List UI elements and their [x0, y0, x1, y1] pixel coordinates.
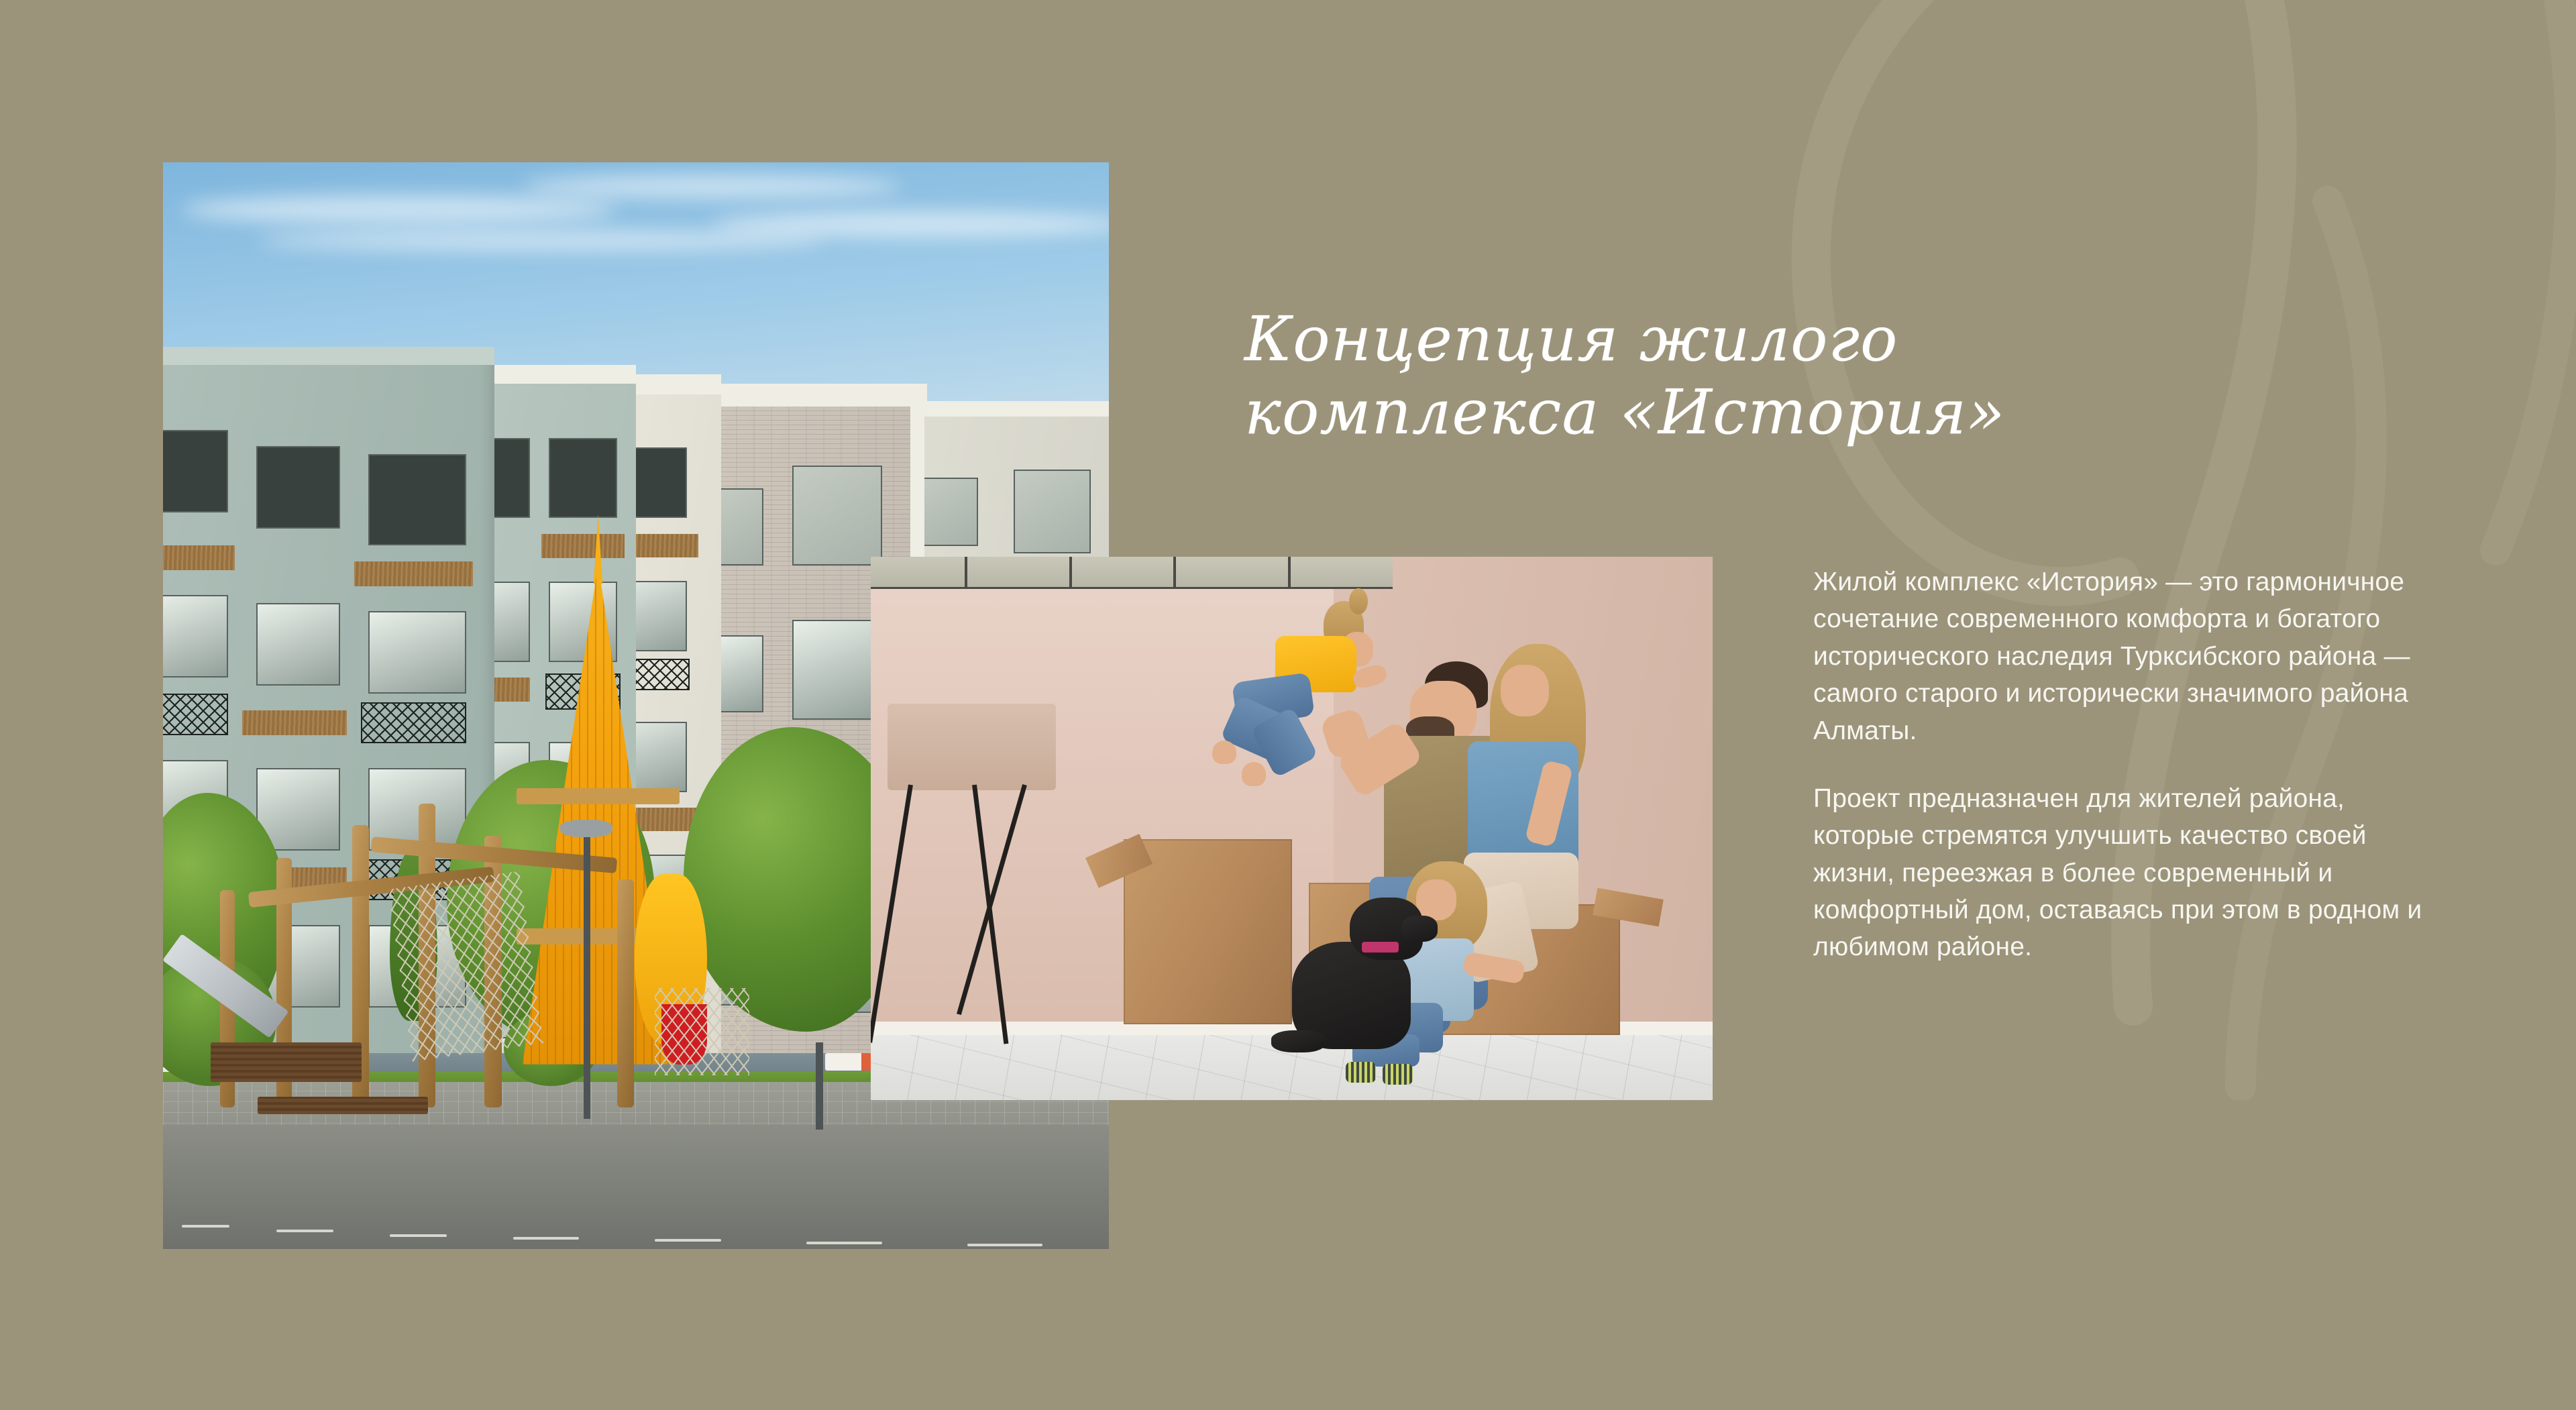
dog: [1283, 893, 1435, 1078]
window-strip: [871, 557, 1393, 589]
page-title: Концепция жилого комплекса «История»: [1244, 303, 2251, 449]
body-paragraph-1: Жилой комплекс «История» — это гармоничн…: [1813, 563, 2430, 749]
playground-log: [617, 879, 634, 1107]
street-lamp-head: [560, 820, 612, 837]
body-paragraph-2: Проект предназначен для жителей района, …: [1813, 780, 2430, 966]
street-lamp: [584, 825, 590, 1118]
barrier-post: [816, 1042, 823, 1130]
body-text-block: Жилой комплекс «История» — это гармоничн…: [1813, 563, 2430, 966]
slide-root: Концепция жилого комплекса «История» Жил…: [0, 0, 2576, 1410]
cardboard-box: [1124, 839, 1292, 1024]
playground-climbing-net: [388, 871, 543, 1062]
playground-cone-tower: [523, 564, 674, 1064]
dog-collar: [1362, 942, 1398, 953]
page-title-line-1: Концепция жилого: [1244, 303, 2251, 376]
page-title-line-2: комплекса «История»: [1244, 376, 2251, 449]
floor-lamp-shade: [888, 704, 1056, 791]
park-bench: [211, 1042, 362, 1081]
playground-rope-net: [655, 988, 749, 1075]
family-moving-in-photo: [871, 557, 1713, 1100]
park-bench: [258, 1097, 428, 1114]
